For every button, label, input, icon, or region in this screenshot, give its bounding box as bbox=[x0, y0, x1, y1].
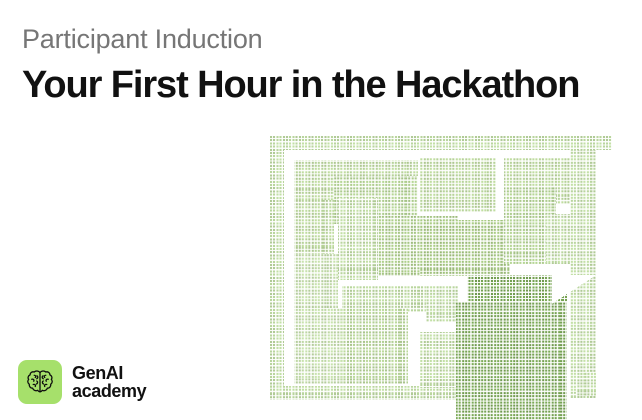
halftone-block bbox=[420, 158, 496, 212]
halftone-block bbox=[456, 302, 567, 420]
halftone-weave bbox=[270, 136, 284, 400]
halftone-block bbox=[426, 286, 458, 322]
halftone-block-layer bbox=[270, 136, 642, 420]
halftone-block bbox=[338, 198, 378, 280]
halftone-weave bbox=[456, 302, 567, 420]
page-title: Your First Hour in the Hackathon bbox=[22, 62, 632, 108]
eyebrow-label: Participant Induction bbox=[22, 22, 632, 56]
halftone-diagonal-notch bbox=[552, 275, 598, 305]
halftone-block bbox=[270, 386, 460, 400]
halftone-block bbox=[420, 220, 510, 276]
logo-line-2: academy bbox=[72, 382, 146, 400]
halftone-block bbox=[576, 372, 596, 396]
logo: GenAI academy bbox=[18, 360, 146, 404]
halftone-weave bbox=[576, 372, 596, 396]
logo-line-1: GenAI bbox=[72, 364, 146, 382]
halftone-weave bbox=[270, 386, 460, 400]
halftone-block bbox=[570, 150, 596, 398]
halftone-weave bbox=[426, 286, 458, 322]
halftone-weave bbox=[338, 198, 378, 280]
halftone-graphic bbox=[270, 136, 642, 420]
brain-icon bbox=[25, 369, 55, 395]
halftone-weave bbox=[420, 158, 496, 212]
halftone-weave bbox=[270, 136, 612, 150]
halftone-weave bbox=[342, 308, 408, 384]
header: Participant Induction Your First Hour in… bbox=[22, 22, 632, 108]
logo-wordmark: GenAI academy bbox=[72, 364, 146, 401]
halftone-block bbox=[342, 308, 408, 384]
halftone-weave bbox=[294, 254, 338, 310]
halftone-weave bbox=[570, 150, 596, 398]
logo-badge bbox=[18, 360, 62, 404]
halftone-block bbox=[294, 254, 338, 310]
halftone-block bbox=[270, 136, 284, 400]
halftone-block bbox=[270, 136, 612, 150]
slide-root: Participant Induction Your First Hour in… bbox=[0, 0, 642, 420]
halftone-weave bbox=[420, 220, 510, 276]
